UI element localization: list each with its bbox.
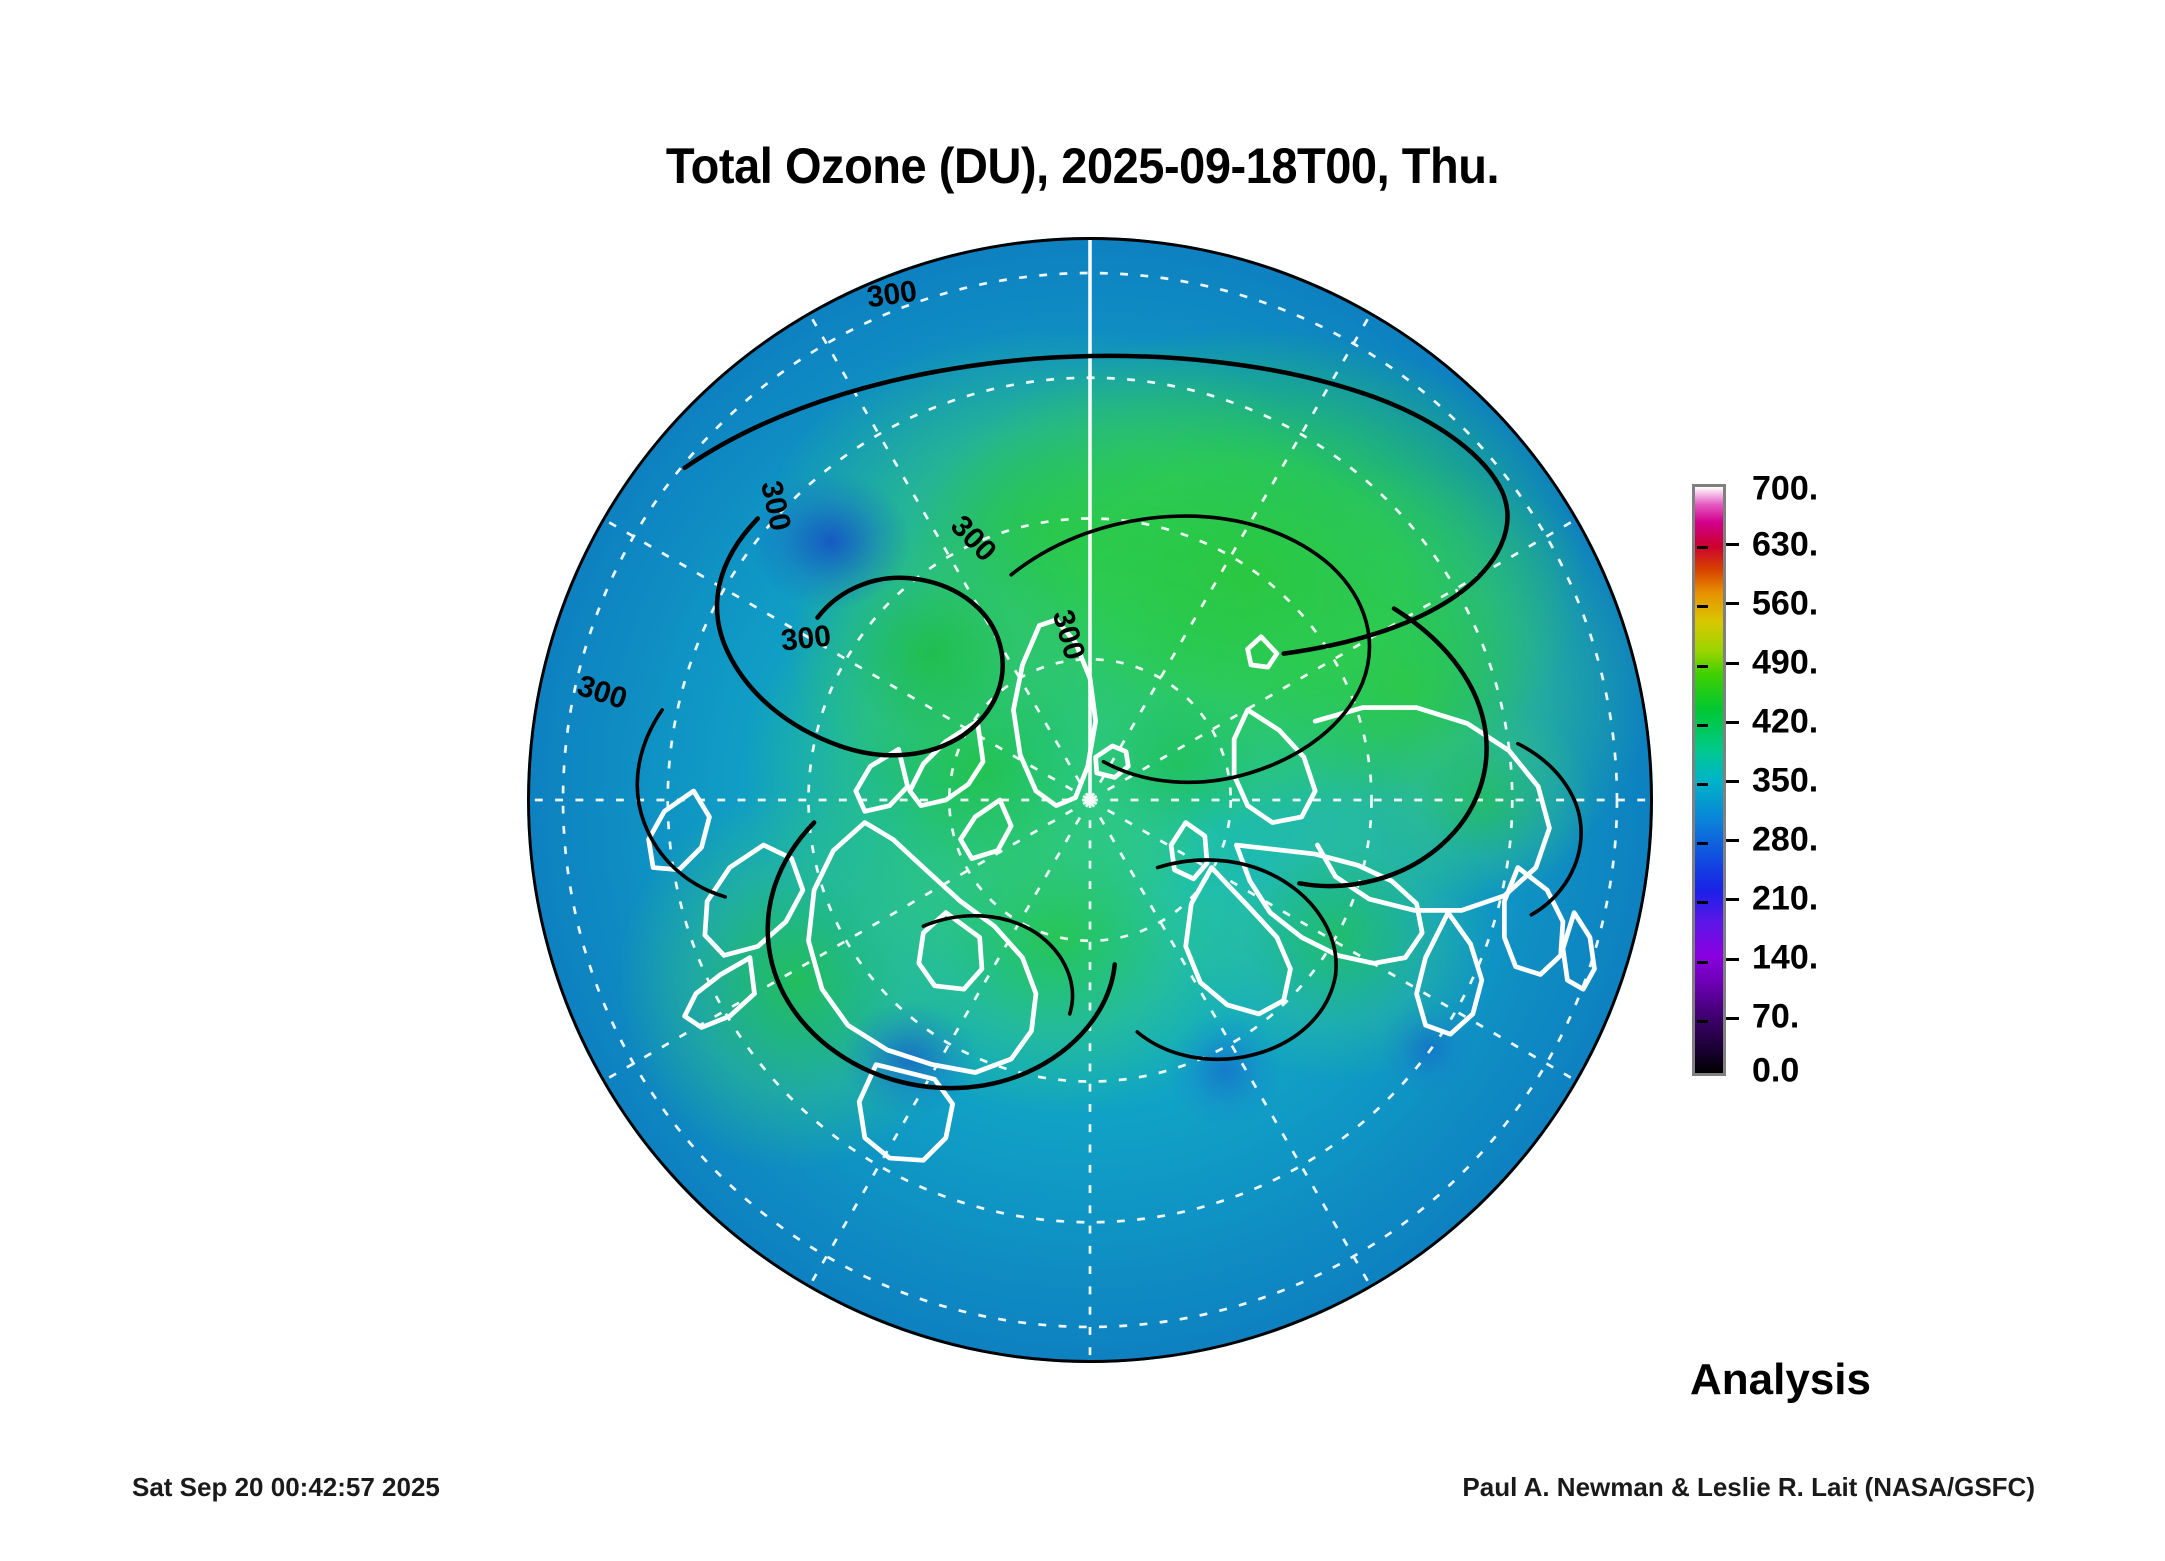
colorbar-tick-inner-140: [1697, 961, 1708, 964]
colorbar-tick-inner-490: [1697, 665, 1708, 668]
colorbar-tick-inner-210: [1697, 901, 1708, 904]
colorbar-label-140: 140.: [1752, 939, 1818, 978]
contour-label-300-4: 300: [780, 620, 833, 659]
timestamp-label: Sat Sep 20 00:42:57 2025: [132, 1472, 440, 1503]
colorbar-label-70: 70.: [1752, 998, 1799, 1037]
colorbar-tick-630: [1726, 543, 1739, 546]
colorbar-tick-70: [1726, 1017, 1739, 1020]
colorbar: 700. 630. 560. 490. 420. 350. 280. 210. …: [1692, 484, 2132, 1084]
contour-label-300-1: 300: [865, 274, 919, 315]
colorbar-label-280: 280.: [1752, 821, 1818, 860]
colorbar-tick-420: [1726, 721, 1739, 724]
ozone-map-panel: 300 300 300 300 300 300: [527, 237, 1653, 1363]
colorbar-tick-inner-280: [1697, 842, 1708, 845]
colorbar-tick-490: [1726, 662, 1739, 665]
colorbar-label-560: 560.: [1752, 585, 1818, 624]
colorbar-gradient: [1695, 487, 1723, 1073]
colorbar-tick-inner-420: [1697, 724, 1708, 727]
colorbar-label-210: 210.: [1752, 880, 1818, 919]
colorbar-tick-inner-560: [1697, 605, 1708, 608]
colorbar-bar: [1692, 484, 1726, 1076]
colorbar-tick-inner-630: [1697, 546, 1708, 549]
colorbar-label-630: 630.: [1752, 526, 1818, 565]
colorbar-label-0: 0.0: [1752, 1052, 1799, 1091]
colorbar-label-490: 490.: [1752, 644, 1818, 683]
colorbar-tick-280: [1726, 839, 1739, 842]
colorbar-tick-inner-70: [1697, 1020, 1708, 1023]
credit-label: Paul A. Newman & Leslie R. Lait (NASA/GS…: [1462, 1472, 2035, 1503]
colorbar-label-420: 420.: [1752, 703, 1818, 742]
colorbar-label-350: 350.: [1752, 762, 1818, 801]
ozone-field-rim: [527, 237, 1653, 1363]
colorbar-tick-560: [1726, 602, 1739, 605]
colorbar-tick-inner-350: [1697, 783, 1708, 786]
page-title: Total Ozone (DU), 2025-09-18T00, Thu.: [65, 137, 2100, 195]
colorbar-label-700: 700.: [1752, 470, 1818, 509]
colorbar-tick-140: [1726, 958, 1739, 961]
colorbar-tick-210: [1726, 898, 1739, 901]
colorbar-tick-350: [1726, 780, 1739, 783]
analysis-label: Analysis: [1690, 1355, 1871, 1405]
globe-disc: [527, 237, 1653, 1363]
